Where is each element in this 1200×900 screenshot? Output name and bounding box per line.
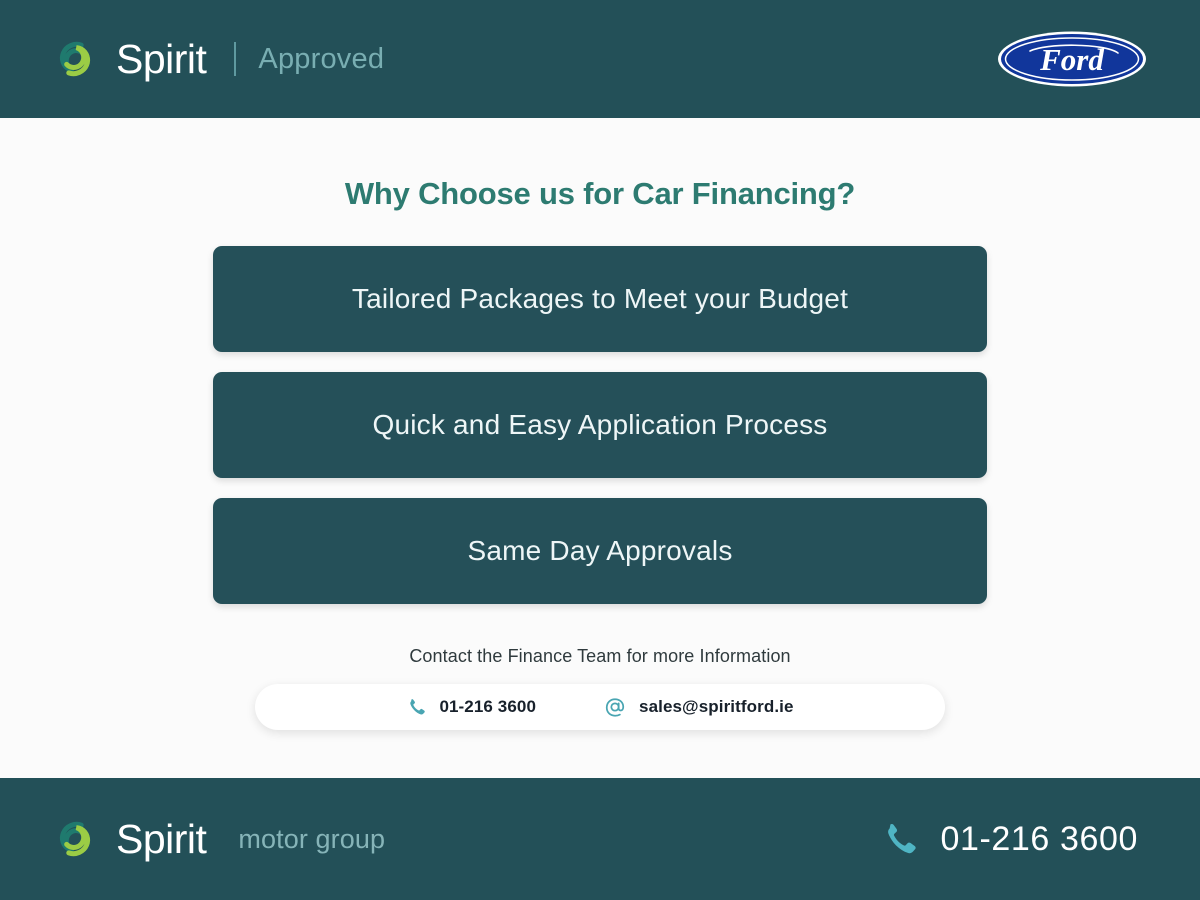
contact-pill: 01-216 3600 sales@spiritford.ie	[255, 684, 945, 730]
spirit-spiral-icon	[52, 36, 98, 82]
contact-email-value: sales@spiritford.ie	[639, 697, 794, 717]
feature-card-label: Quick and Easy Application Process	[372, 409, 827, 441]
contact-phone[interactable]: 01-216 3600	[406, 697, 536, 717]
spirit-spiral-icon	[52, 816, 98, 862]
ford-wordmark: Ford	[1039, 42, 1104, 77]
feature-card-label: Same Day Approvals	[467, 535, 732, 567]
footer-phone-number: 01-216 3600	[940, 820, 1138, 859]
main-content: Why Choose us for Car Financing? Tailore…	[0, 118, 1200, 778]
page-title: Why Choose us for Car Financing?	[345, 176, 855, 212]
footer-brand-name: Spirit	[116, 819, 206, 860]
contact-email[interactable]: sales@spiritford.ie	[604, 696, 794, 718]
feature-card-tailored-packages[interactable]: Tailored Packages to Meet your Budget	[213, 246, 987, 352]
ford-oval-icon[interactable]: Ford	[996, 29, 1148, 89]
header-brand-divider	[234, 42, 236, 76]
at-sign-icon	[604, 696, 626, 718]
feature-card-stack: Tailored Packages to Meet your Budget Qu…	[213, 246, 987, 604]
footer-brand-sub: motor group	[238, 826, 385, 853]
footer-brand-lockup[interactable]: Spirit motor group	[52, 816, 385, 862]
header-brand-qualifier: Approved	[258, 45, 384, 74]
contact-phone-value: 01-216 3600	[439, 697, 536, 717]
page-header: Spirit Approved Ford	[0, 0, 1200, 118]
header-brand-lockup[interactable]: Spirit Approved	[52, 36, 384, 82]
footer-phone[interactable]: 01-216 3600	[880, 820, 1138, 859]
header-brand-name: Spirit	[116, 39, 206, 80]
phone-handset-icon	[406, 697, 426, 717]
phone-handset-icon	[880, 820, 918, 858]
feature-card-quick-application[interactable]: Quick and Easy Application Process	[213, 372, 987, 478]
contact-prompt: Contact the Finance Team for more Inform…	[409, 646, 790, 667]
page-footer: Spirit motor group 01-216 3600	[0, 778, 1200, 900]
finance-promo-slide: Spirit Approved Ford Why Choose us for C…	[0, 0, 1200, 900]
feature-card-same-day-approvals[interactable]: Same Day Approvals	[213, 498, 987, 604]
feature-card-label: Tailored Packages to Meet your Budget	[352, 283, 848, 315]
